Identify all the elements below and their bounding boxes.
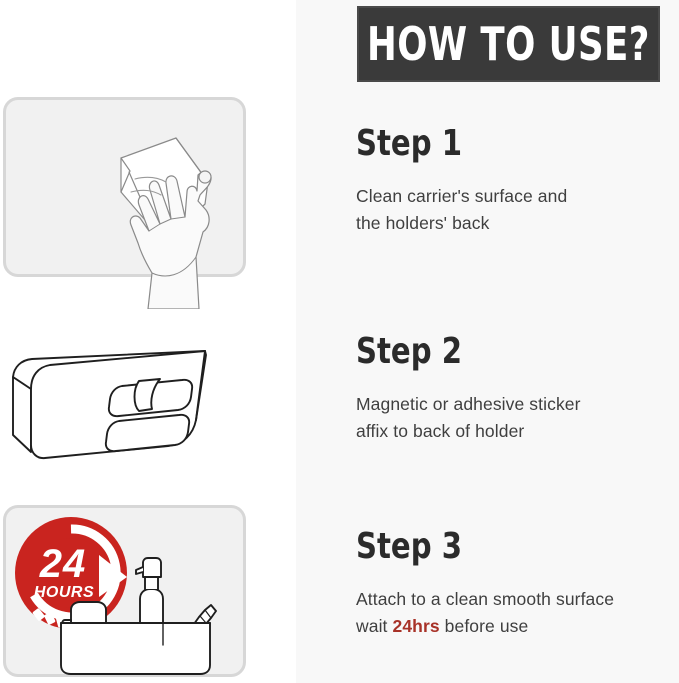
how-to-use-infographic: 24 HOURS [0, 0, 679, 683]
step-2-body-line-2: affix to back of holder [356, 421, 524, 441]
step-3-block: Step 3 Attach to a clean smooth surface … [356, 528, 676, 640]
hand-wiping-surface-icon [0, 97, 260, 307]
step-3-body: Attach to a clean smooth surface wait 24… [356, 586, 676, 640]
page-title: HOW TO USE? [367, 21, 650, 67]
step-3-body-line-2-post: before use [440, 616, 529, 636]
step-1-body-line-2: the holders' back [356, 213, 489, 233]
step-1-block: Step 1 Clean carrier's surface and the h… [356, 125, 676, 237]
step-1-heading: Step 1 [356, 125, 644, 163]
step-3-highlight-24hrs: 24hrs [392, 616, 439, 636]
step-2-body: Magnetic or adhesive sticker affix to ba… [356, 391, 676, 445]
svg-text:24: 24 [39, 542, 87, 586]
step-3-body-line-1: Attach to a clean smooth surface [356, 589, 614, 609]
illustration-column: 24 HOURS [0, 0, 296, 683]
holder-back-adhesive-icon [0, 325, 260, 475]
content-column: HOW TO USE? Step 1 Clean carrier's surfa… [296, 0, 679, 683]
step-3-heading: Step 3 [356, 528, 644, 566]
step-1-body: Clean carrier's surface and the holders'… [356, 183, 676, 237]
step-1-body-line-1: Clean carrier's surface and [356, 186, 567, 206]
svg-text:HOURS: HOURS [34, 584, 94, 601]
step-3-body-line-2-pre: wait [356, 616, 392, 636]
step-2-body-line-1: Magnetic or adhesive sticker [356, 394, 581, 414]
step-2-block: Step 2 Magnetic or adhesive sticker affi… [356, 333, 676, 445]
how-to-use-title-box: HOW TO USE? [357, 6, 660, 82]
twenty-four-hours-caddy-icon: 24 HOURS [3, 505, 246, 677]
step-2-heading: Step 2 [356, 333, 644, 371]
